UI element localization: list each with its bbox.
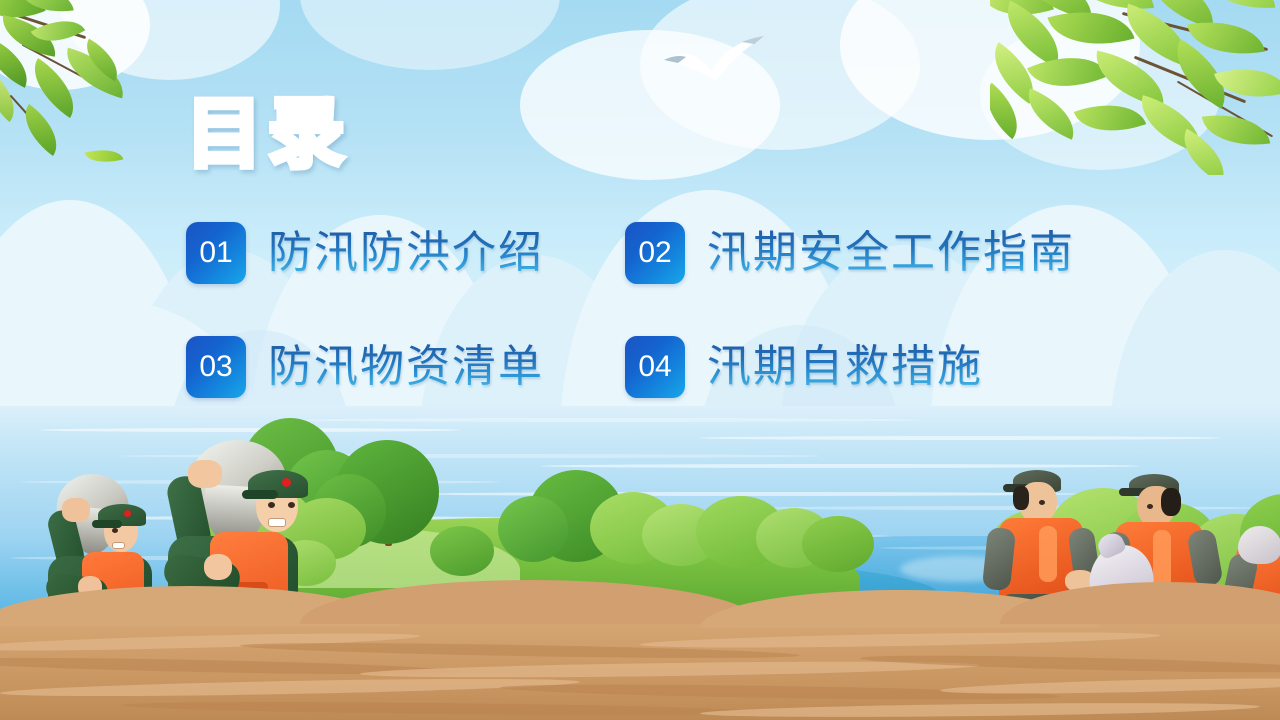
toc-item-04[interactable]: 04 汛期自救措施 [625, 336, 983, 398]
toc-item-label: 防汛防洪介绍 [268, 230, 544, 276]
toc-item-label: 汛期安全工作指南 [707, 230, 1075, 276]
toc-number-badge: 01 [186, 222, 246, 284]
toc-item-03[interactable]: 03 防汛物资清单 [186, 336, 544, 398]
toc-item-label: 防汛物资清单 [268, 344, 544, 390]
toc-number-badge: 04 [625, 336, 685, 398]
toc-number-badge: 03 [186, 336, 246, 398]
toc-item-01[interactable]: 01 防汛防洪介绍 [186, 222, 544, 284]
table-of-contents: 01 防汛防洪介绍 02 汛期安全工作指南 03 防汛物资清单 04 汛期自救措… [0, 0, 1280, 720]
toc-item-label: 汛期自救措施 [707, 344, 983, 390]
presentation-slide: 目录 01 防汛防洪介绍 02 汛期安全工作指南 03 防汛物资清单 04 汛期… [0, 0, 1280, 720]
toc-item-02[interactable]: 02 汛期安全工作指南 [625, 222, 1075, 284]
toc-number-badge: 02 [625, 222, 685, 284]
